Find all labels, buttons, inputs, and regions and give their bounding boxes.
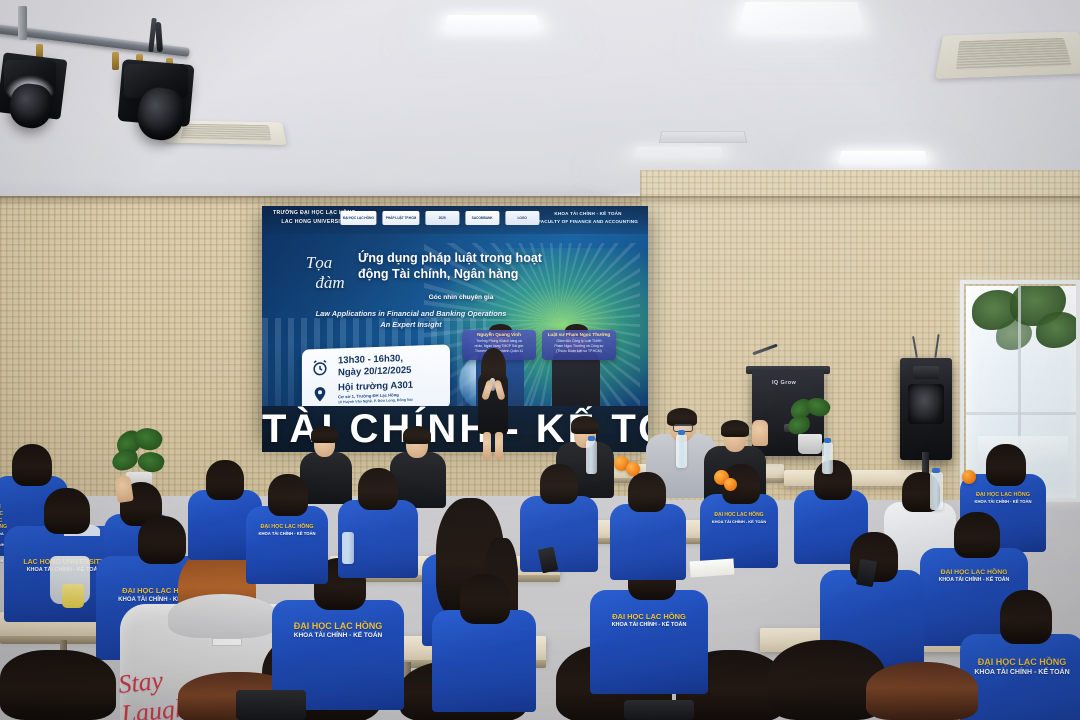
university-name-en: LAC HONG UNIVERSITY [281,219,347,225]
speaker-role: Giám đốc Công ty Luật TNHH Phạm Ngọc Thư… [544,339,614,354]
truss-pipe [18,6,27,40]
pa-speaker [900,358,952,460]
sponsor-logo: 2025 [425,211,459,225]
sponsor-logo: SACOMBANK [465,211,499,225]
speaker-name: Luật sư Phạm Ngọc Thưởng [542,332,616,337]
ceiling-light-panel [635,147,724,158]
orange-fruit [962,470,976,484]
event-time-line1: 13h30 - 16h30, [338,353,403,366]
banner-subtitle-vi: Góc nhìn chuyên gia [358,294,564,301]
event-kind-line1: Tọa [306,253,332,272]
ceiling-light-panel [839,151,928,164]
bottle-cap [932,468,940,473]
truss-clamp-bolt [112,52,119,70]
raised-hand [114,475,133,503]
ceiling-light-panel [739,2,864,32]
chair-back [624,700,694,720]
speaker-role-line1: Trưởng Phòng Khách hàng cá [476,339,522,343]
banner-logo-strip: ĐẠI HỌC LẠC HỒNG PHÁP LUẬT TP.HCM 2025 S… [340,211,539,225]
speaker-horn [913,366,939,379]
speaker-role-line2: Phạm Ngọc Thưởng và Cộng sự [554,344,603,348]
photo-scene: TRƯỜNG ĐẠI HỌC LẠC HỒNG LAC HONG UNIVERS… [0,0,1080,720]
orange-fruit [724,478,737,491]
title-vi-line1: Ứng dụng pháp luật trong hoạt [358,250,564,266]
banner-event-kind: Tọa đàm [284,254,354,292]
sponsor-logo: PHÁP LUẬT TP.HCM [383,211,419,225]
speaker-role-line3: (Thuộc Đoàn luật sư TP.HCM) [556,349,601,353]
event-kind-line2: đàm [306,274,354,292]
chair-back [236,690,306,720]
drink-cup [62,584,84,608]
banner-info-card: 13h30 - 16h30, Ngày 20/12/2025 Hội trườn… [302,344,450,413]
ceiling-light-panel-unlit [659,131,748,143]
speaker-name: Nguyễn Quang Vinh [462,332,536,337]
hoodie-hood [168,594,278,638]
ceiling-ac-cassette [935,31,1080,79]
bottle-cap [678,430,685,435]
event-time-line2: Ngày 20/12/2025 [338,365,411,379]
hoodie-label-tag [212,638,242,646]
faculty-name-vi: KHOA TÀI CHÍNH - KẾ TOÁN [554,211,621,216]
sponsor-logo: LOGO [505,211,539,225]
speaker-role-line1: Giám đốc Công ty Luật TNHH [557,339,602,343]
alarm-clock-icon [310,358,330,379]
podium-logo: IQ Grow [772,378,818,387]
water-bottle [342,532,354,564]
speaker-woofer [908,384,944,424]
faculty-name-en: FACULTY OF FINANCE AND ACCOUNTING [538,219,638,224]
location-pin-icon [310,385,330,406]
bottle-cap [824,438,831,443]
bottle-cap [588,436,595,441]
orange-fruit [626,462,640,476]
banner-faculty-name: KHOA TÀI CHÍNH - KẾ TOÁN FACULTY OF FINA… [538,210,638,227]
sponsor-logo: ĐẠI HỌC LẠC HỒNG [340,211,377,225]
water-bottle [930,472,943,510]
banner-main-title: Ứng dụng pháp luật trong hoạt động Tài c… [358,250,564,282]
event-venue: Hội trường A301 [338,380,413,394]
wall-trim-shadow [0,196,1080,206]
banner-speaker-card: Luật sư Phạm Ngọc Thưởng Giám đốc Công t… [542,330,616,360]
title-vi-line2: động Tài chính, Ngân hàng [358,266,564,282]
water-bottle [822,442,833,474]
ceiling-light-panel [444,15,539,31]
water-bottle [586,440,597,474]
paper-sheet [689,558,734,577]
water-bottle [676,434,687,468]
raised-hand [752,420,768,446]
led-screen-banner: TRƯỜNG ĐẠI HỌC LẠC HỒNG LAC HONG UNIVERS… [262,206,648,439]
